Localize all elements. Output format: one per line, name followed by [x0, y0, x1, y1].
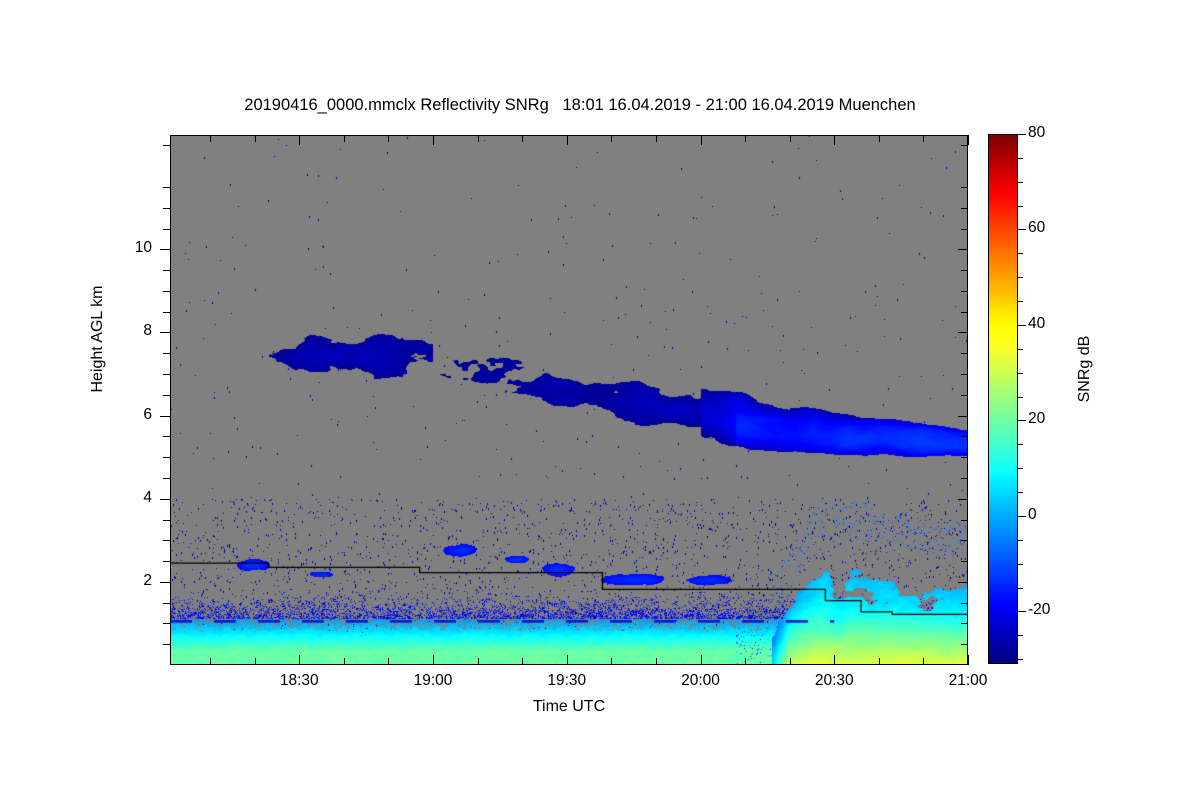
colorbar-tick-minor [1018, 635, 1023, 636]
radar-plot-area [170, 135, 968, 665]
colorbar-tick-minor [1018, 349, 1023, 350]
y-tick-major-right-6 [958, 416, 968, 417]
y-tick-minor [163, 436, 170, 437]
x-tick-minor [522, 658, 523, 665]
y-tick-minor [163, 623, 170, 624]
x-tick-minor [611, 658, 612, 665]
y-tick-minor-right [961, 208, 968, 209]
y-tick-minor-right [961, 623, 968, 624]
x-tick-major-3 [701, 655, 702, 665]
colorbar-tick-40 [1018, 325, 1026, 326]
colorbar-gradient [989, 135, 1017, 663]
colorbar-tick-minor [1018, 206, 1023, 207]
x-tick-minor [255, 658, 256, 665]
y-tick-major-8 [160, 332, 170, 333]
y-tick-minor-right [961, 145, 968, 146]
colorbar-tick-80 [1018, 134, 1026, 135]
x-tick-label-0: 18:30 [264, 672, 334, 690]
y-tick-label-4: 4 [124, 489, 152, 507]
x-tick-minor [745, 658, 746, 665]
colorbar-tick-label-40: 40 [1028, 315, 1072, 333]
y-tick-minor [163, 208, 170, 209]
x-tick-minor [656, 658, 657, 665]
y-tick-minor [163, 374, 170, 375]
x-axis-label: Time UTC [170, 698, 968, 716]
x-tick-minor-top [656, 135, 657, 142]
y-tick-minor [163, 395, 170, 396]
colorbar-label: SNRg dB [1076, 269, 1094, 469]
x-tick-minor [344, 658, 345, 665]
x-tick-minor-top [745, 135, 746, 142]
x-tick-minor-top [478, 135, 479, 142]
x-tick-minor [923, 658, 924, 665]
colorbar-tick-minor [1018, 277, 1023, 278]
x-tick-minor-top [879, 135, 880, 142]
colorbar-tick-minor [1018, 659, 1023, 660]
plot-title: 20190416_0000.mmclx Reflectivity SNRg 18… [0, 96, 1160, 115]
x-tick-major-top-0 [299, 135, 300, 145]
x-tick-minor [790, 658, 791, 665]
x-tick-minor-top [255, 135, 256, 142]
y-tick-minor-right [961, 312, 968, 313]
y-tick-minor [163, 478, 170, 479]
y-tick-minor [163, 520, 170, 521]
x-tick-major-0 [299, 655, 300, 665]
y-tick-minor [163, 457, 170, 458]
y-tick-minor [163, 229, 170, 230]
x-tick-major-5 [968, 655, 969, 665]
x-tick-minor-top [790, 135, 791, 142]
reflectivity-heatmap [170, 135, 968, 665]
y-tick-minor-right [961, 457, 968, 458]
y-tick-major-right-10 [958, 249, 968, 250]
colorbar-tick-minor [1018, 468, 1023, 469]
y-tick-major-4 [160, 499, 170, 500]
colorbar-tick-label-60: 60 [1028, 219, 1072, 237]
y-tick-minor [163, 644, 170, 645]
y-tick-minor-right [961, 374, 968, 375]
colorbar-tick-label-80: 80 [1028, 124, 1072, 142]
y-tick-minor-right [961, 540, 968, 541]
x-tick-minor [388, 658, 389, 665]
x-tick-minor [478, 658, 479, 665]
x-tick-minor [879, 658, 880, 665]
y-tick-minor-right [961, 353, 968, 354]
y-tick-minor-right [961, 187, 968, 188]
radar-figure: 20190416_0000.mmclx Reflectivity SNRg 18… [0, 0, 1200, 800]
x-tick-major-1 [433, 655, 434, 665]
x-tick-minor-top [344, 135, 345, 142]
x-tick-minor-top [388, 135, 389, 142]
x-tick-minor-top [923, 135, 924, 142]
y-tick-minor-right [961, 436, 968, 437]
colorbar-tick-minor [1018, 564, 1023, 565]
y-tick-minor-right [961, 520, 968, 521]
y-tick-minor [163, 291, 170, 292]
y-tick-major-right-4 [958, 499, 968, 500]
colorbar-tick-minor [1018, 182, 1023, 183]
y-tick-major-6 [160, 416, 170, 417]
y-tick-label-6: 6 [124, 406, 152, 424]
y-tick-minor-right [961, 270, 968, 271]
x-tick-minor-top [611, 135, 612, 142]
y-tick-major-10 [160, 249, 170, 250]
x-tick-major-top-1 [433, 135, 434, 145]
y-tick-minor [163, 312, 170, 313]
colorbar-tick-minor [1018, 301, 1023, 302]
x-tick-minor-top [522, 135, 523, 142]
x-tick-major-top-4 [834, 135, 835, 145]
y-tick-minor-right [961, 561, 968, 562]
y-tick-label-10: 10 [124, 239, 152, 257]
y-tick-major-right-2 [958, 582, 968, 583]
y-tick-minor-right [961, 603, 968, 604]
y-tick-minor-right [961, 395, 968, 396]
colorbar-tick-label--20: -20 [1028, 601, 1072, 619]
y-tick-minor [163, 561, 170, 562]
y-tick-minor-right [961, 229, 968, 230]
colorbar-tick-minor [1018, 397, 1023, 398]
x-tick-major-top-3 [701, 135, 702, 145]
colorbar [988, 134, 1018, 664]
y-tick-minor-right [961, 291, 968, 292]
y-tick-label-8: 8 [124, 322, 152, 340]
y-axis-label: Height AGL km [89, 229, 107, 449]
x-tick-label-4: 20:30 [799, 672, 869, 690]
x-tick-major-2 [567, 655, 568, 665]
x-tick-label-2: 19:30 [532, 672, 602, 690]
colorbar-tick-20 [1018, 420, 1026, 421]
y-tick-major-2 [160, 582, 170, 583]
x-tick-label-3: 20:00 [666, 672, 736, 690]
colorbar-tick-minor [1018, 540, 1023, 541]
x-tick-label-1: 19:00 [398, 672, 468, 690]
x-tick-minor-top [210, 135, 211, 142]
y-tick-major-right-8 [958, 332, 968, 333]
colorbar-tick-label-0: 0 [1028, 506, 1072, 524]
x-tick-major-top-5 [968, 135, 969, 145]
colorbar-tick-minor [1018, 492, 1023, 493]
y-tick-label-2: 2 [124, 572, 152, 590]
colorbar-tick-0 [1018, 516, 1026, 517]
y-tick-minor [163, 187, 170, 188]
colorbar-tick-minor [1018, 444, 1023, 445]
y-tick-minor [163, 540, 170, 541]
colorbar-tick-minor [1018, 588, 1023, 589]
y-tick-minor [163, 270, 170, 271]
y-tick-minor-right [961, 478, 968, 479]
x-tick-major-4 [834, 655, 835, 665]
colorbar-tick-60 [1018, 229, 1026, 230]
colorbar-tick-minor [1018, 158, 1023, 159]
y-tick-minor-right [961, 644, 968, 645]
y-tick-minor [163, 145, 170, 146]
x-tick-label-5: 21:00 [933, 672, 1003, 690]
colorbar-tick-minor [1018, 373, 1023, 374]
x-tick-minor [210, 658, 211, 665]
colorbar-tick-label-20: 20 [1028, 410, 1072, 428]
y-tick-minor [163, 603, 170, 604]
y-tick-minor [163, 353, 170, 354]
colorbar-tick-minor [1018, 253, 1023, 254]
colorbar-tick--20 [1018, 611, 1026, 612]
x-tick-major-top-2 [567, 135, 568, 145]
